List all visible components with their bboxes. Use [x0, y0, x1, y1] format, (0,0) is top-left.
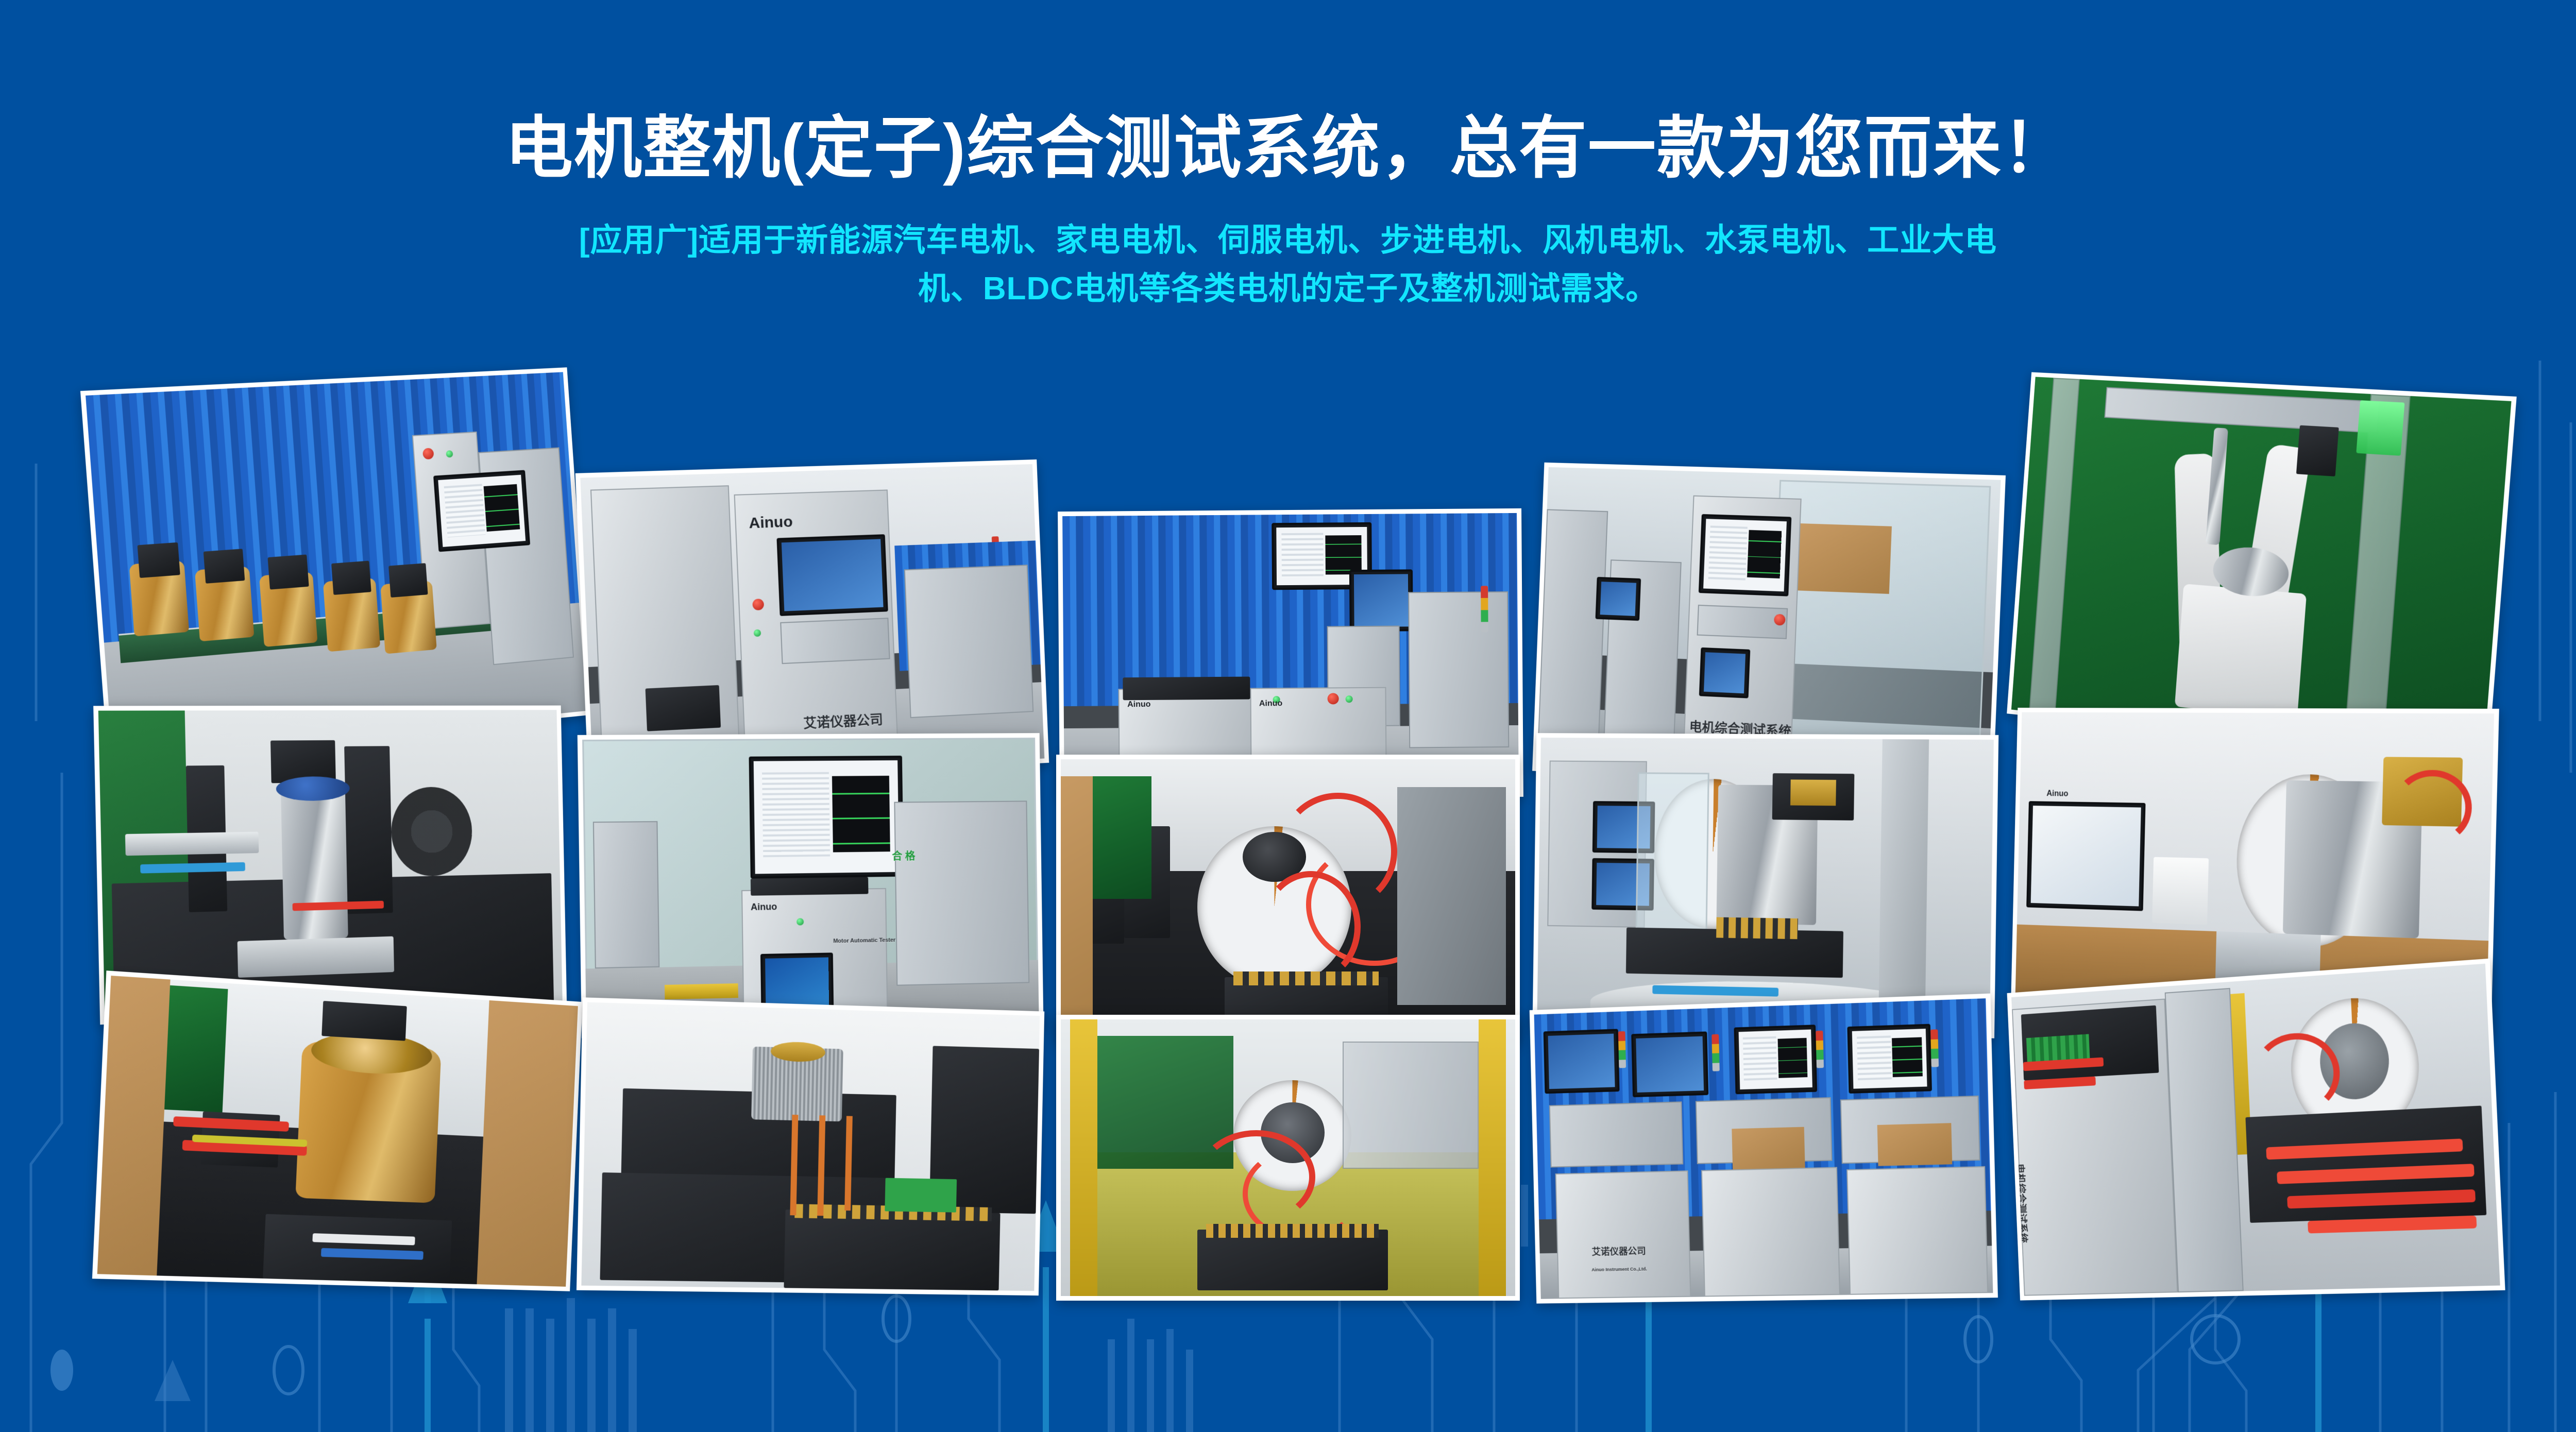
page-title: 电机整机(定子)综合测试系统，总有一款为您而来！ [0, 108, 2576, 189]
gallery-photo-stator-safety-cabin-test[interactable] [1056, 1015, 1520, 1301]
gallery-photo-stator-batch-test-bench[interactable] [80, 367, 591, 763]
gallery-photo-production-line-test-stations[interactable]: 艾诺仪器公司 Ainuo Instrument Co.,Ltd. [1530, 994, 1998, 1304]
subtitle-line-1: [应用广]适用于新能源汽车电机、家电电机、伺服电机、步进电机、风机电机、水泵电机… [433, 216, 2143, 265]
gallery-photo-bldc-stator-wiring-test[interactable] [1056, 755, 1520, 1043]
gallery-photo-rotor-fixture-green-chamber[interactable] [2007, 372, 2517, 765]
gallery-photo-brass-housing-motor-test[interactable] [92, 970, 583, 1291]
subtitle-block: [应用广]适用于新能源汽车电机、家电电机、伺服电机、步进电机、风机电机、水泵电机… [433, 216, 2143, 313]
subtitle-line-2: 机、BLDC电机等各类电机的定子及整机测试需求。 [433, 265, 2143, 313]
photo-caption-cn: 艾诺仪器公司 [1566, 1243, 1672, 1258]
gallery-photo-large-stator-inline-test[interactable] [1533, 733, 1999, 1038]
poster-stage: 电机整机(定子)综合测试系统，总有一款为您而来！ [应用广]适用于新能源汽车电机… [0, 0, 2576, 1432]
gallery-photo-hv-stator-test-rack[interactable]: 电机综合测试系统 [2007, 959, 2505, 1301]
photo-caption-cn: 合 格 [841, 847, 967, 863]
photo-gallery: Ainuo 艾诺仪器公司 Ainuo Instrument Co.,Ltd. [0, 379, 2576, 1285]
gallery-photo-motor-automatic-tester[interactable]: Ainuo 合 格 Motor Automatic Tester [578, 733, 1044, 1038]
poster-header: 电机整机(定子)综合测试系统，总有一款为您而来！ [应用广]适用于新能源汽车电机… [0, 0, 2576, 313]
photo-caption-en: Ainuo [2046, 789, 2068, 798]
gallery-photo-small-stator-probe-fixture[interactable] [577, 997, 1044, 1295]
